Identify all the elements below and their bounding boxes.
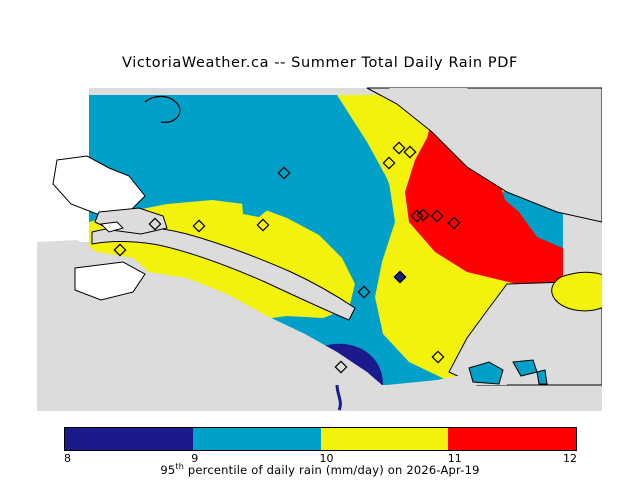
caption-suffix: percentile of daily rain (mm/day) on 202…	[184, 463, 480, 477]
colorbar-band-navy[interactable]	[65, 428, 193, 450]
colorbar-caption: 95th percentile of daily rain (mm/day) o…	[0, 462, 640, 477]
colorbar-band-cyan[interactable]	[193, 428, 321, 450]
page-title: VictoriaWeather.ca -- Summer Total Daily…	[0, 55, 640, 71]
map-white-margin-left	[37, 222, 89, 242]
colorbar-band-red[interactable]	[448, 428, 576, 450]
caption-superscript: th	[175, 462, 184, 471]
caption-prefix: 95	[160, 463, 175, 477]
map-plot-area[interactable]	[37, 72, 602, 411]
map-svg	[37, 72, 602, 411]
screenshot-root: VictoriaWeather.ca -- Summer Total Daily…	[0, 0, 640, 480]
colorbar-band-yellow[interactable]	[321, 428, 449, 450]
colorbar-bands[interactable]	[64, 427, 577, 451]
colorbar[interactable]	[64, 427, 577, 451]
bay-southeast-3	[537, 370, 547, 384]
